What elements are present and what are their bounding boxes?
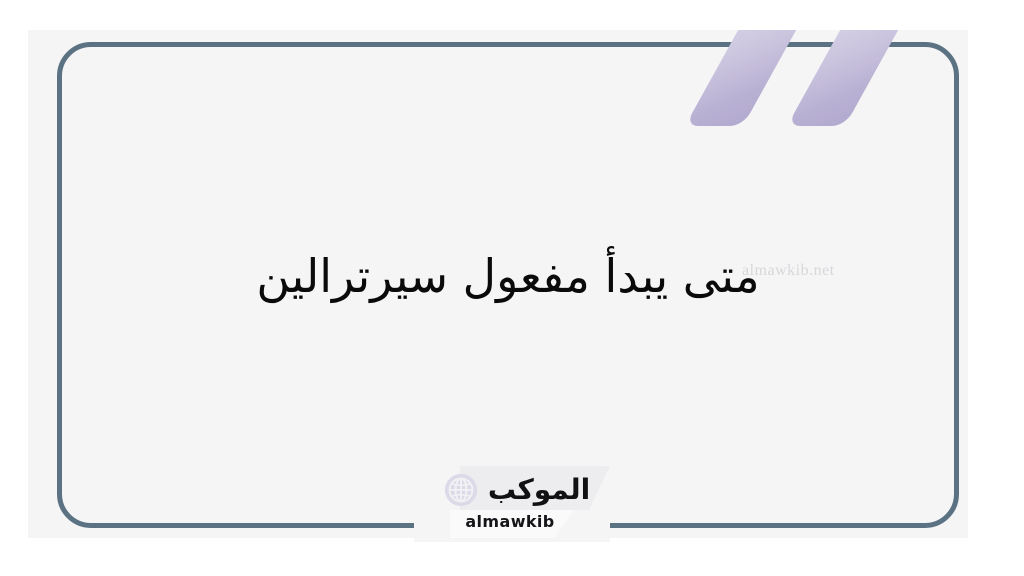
globe-icon: [444, 473, 478, 507]
brand-row: الموكب: [424, 468, 610, 512]
brand-name-arabic: الموكب: [488, 476, 590, 504]
screenshot-stage: متى يبدأ مفعول سيرترالين almawkib.net ال…: [0, 0, 1024, 576]
page-title: متى يبدأ مفعول سيرترالين: [256, 242, 759, 329]
brand-name-latin: almawkib: [424, 512, 596, 531]
brand-badge[interactable]: الموكب almawkib: [424, 466, 610, 538]
headline-container: متى يبدأ مفعول سيرترالين: [57, 42, 959, 528]
